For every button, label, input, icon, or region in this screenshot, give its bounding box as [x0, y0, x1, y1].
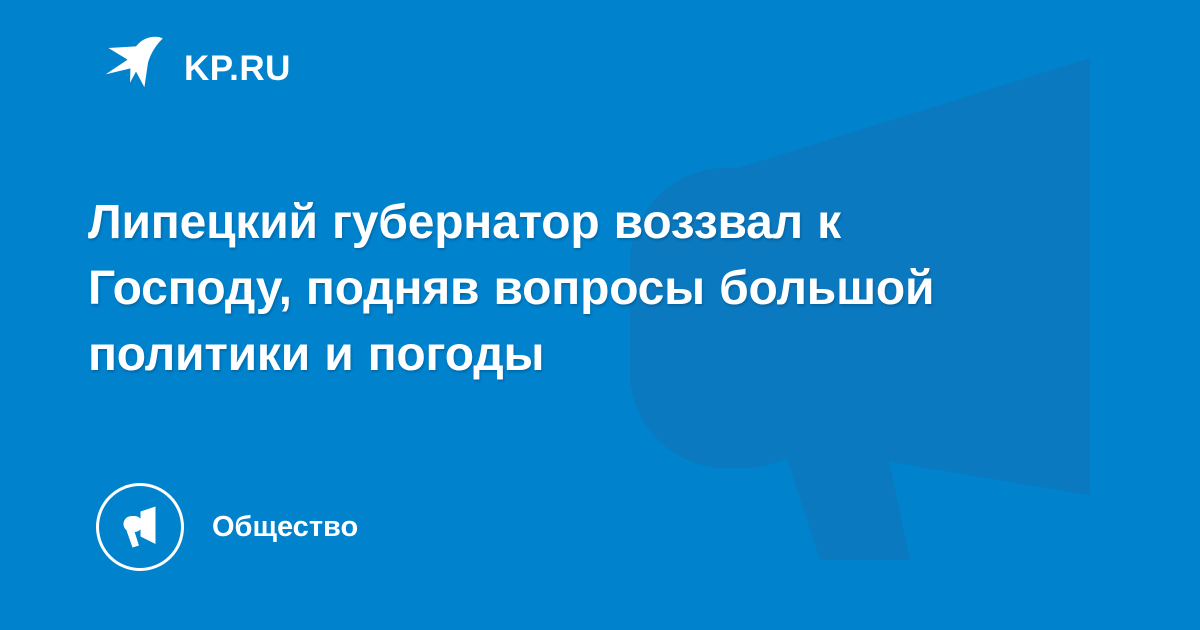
headline-title: Липецкий губернатор воззвал к Господу, п…	[88, 190, 988, 388]
category-label: Общество	[212, 513, 358, 542]
category-badge[interactable]: Общество	[96, 482, 358, 572]
megaphone-icon	[114, 501, 166, 553]
swallow-bird-logo-icon	[88, 28, 168, 108]
brand-header: KP.RU	[88, 36, 291, 100]
share-card: KP.RU Липецкий губернатор воззвал к Госп…	[0, 0, 1200, 630]
category-icon-ring	[96, 483, 184, 571]
brand-name: KP.RU	[184, 51, 291, 86]
